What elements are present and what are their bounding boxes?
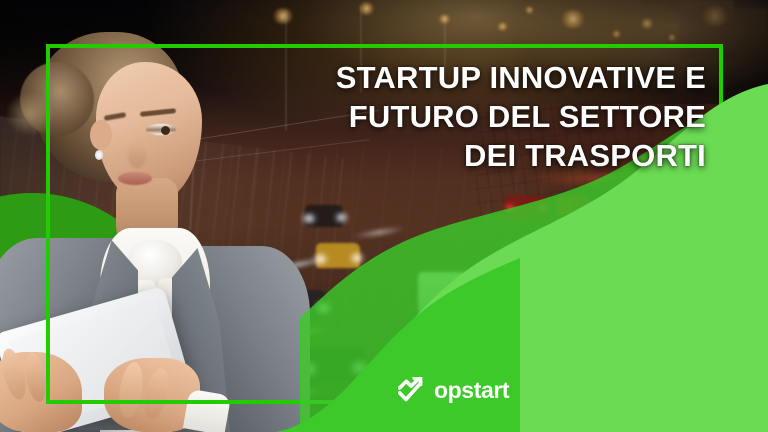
logo-wordmark: opstart [434, 379, 509, 402]
headline: STARTUP INNOVATIVE E FUTURO DEL SETTORE … [236, 58, 706, 175]
marketing-banner: STARTUP INNOVATIVE E FUTURO DEL SETTORE … [0, 0, 768, 432]
headline-line-3: DEI TRASPORTI [236, 136, 706, 175]
headline-line-2: FUTURO DEL SETTORE [236, 97, 706, 136]
opstart-logo[interactable]: opstart [398, 377, 509, 403]
chart-arrow-check-icon [398, 377, 425, 403]
headline-line-1: STARTUP INNOVATIVE E [236, 58, 706, 97]
